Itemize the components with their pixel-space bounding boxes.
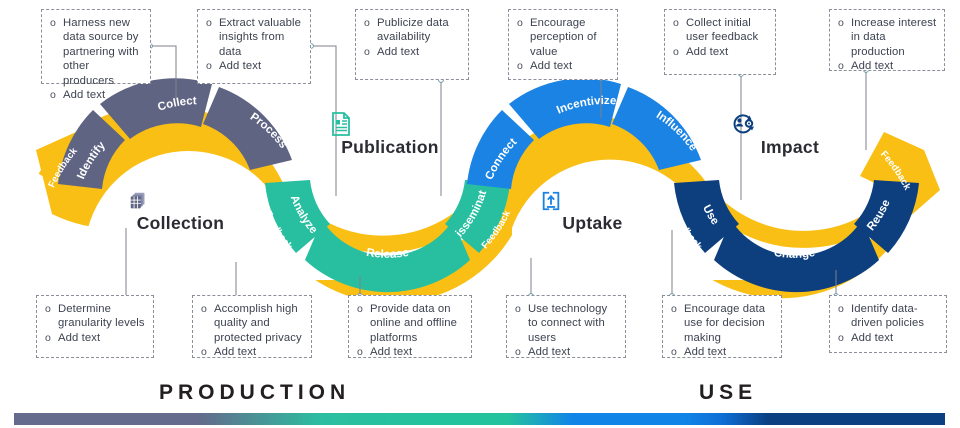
hub-impact[interactable]: Impact [730, 112, 850, 158]
callout-increase-interest[interactable]: Increase interest in data production Add… [829, 9, 945, 71]
callout-item: Provide data on online and offline platf… [356, 302, 464, 345]
hub-label-uptake: Uptake [562, 213, 622, 233]
callout-item: Add text [672, 45, 768, 59]
callout-encourage-data-use[interactable]: Encourage data use for decision making A… [662, 295, 782, 358]
hub-uptake[interactable]: Uptake [540, 190, 645, 234]
callout-item: Determine granularity levels [44, 302, 146, 331]
callout-publicize-data[interactable]: Publicize data availability Add text [355, 9, 469, 80]
callout-item: Add text [670, 345, 774, 359]
phase-label-use: USE [699, 381, 757, 405]
callout-item: Accomplish high quality and protected pr… [200, 302, 304, 345]
hub-publication[interactable]: Publication [330, 112, 450, 158]
callout-item: Increase interest in data production [837, 16, 937, 59]
hub-label-collection: Collection [137, 213, 225, 233]
callout-harness-new-data[interactable]: Harness new data source by partnering wi… [41, 9, 151, 84]
upload-box-icon [540, 190, 645, 212]
callout-item: Add text [514, 345, 618, 359]
callout-item: Add text [49, 88, 143, 102]
callout-extract-insights[interactable]: Extract valuable insights from data Add … [197, 9, 311, 84]
bottom-gradient-bar [14, 413, 945, 425]
hub-label-impact: Impact [761, 137, 819, 157]
callout-item: Encourage data use for decision making [670, 302, 774, 345]
database-stack-icon [128, 190, 233, 212]
callout-use-technology[interactable]: Use technology to connect with users Add… [506, 295, 626, 358]
segment-label-release: Release [365, 247, 409, 261]
diagram-canvas: Identify Collect Process Analyze Release… [0, 0, 960, 428]
callout-high-quality-privacy[interactable]: Accomplish high quality and protected pr… [192, 295, 312, 358]
callout-encourage-perception[interactable]: Encourage perception of value Add text [508, 9, 618, 80]
callout-item: Identify data-driven policies [837, 302, 939, 331]
callout-item: Extract valuable insights from data [205, 16, 303, 59]
callout-item: Add text [516, 59, 610, 73]
callout-item: Collect initial user feedback [672, 16, 768, 45]
hub-label-publication: Publication [341, 137, 439, 157]
callout-determine-granularity[interactable]: Determine granularity levels Add text [36, 295, 154, 358]
callout-item: Add text [205, 59, 303, 73]
callout-item: Publicize data availability [363, 16, 461, 45]
phase-label-production: PRODUCTION [159, 381, 350, 405]
callout-item: Use technology to connect with users [514, 302, 618, 345]
callout-item: Encourage perception of value [516, 16, 610, 59]
callout-item: Add text [837, 331, 939, 345]
document-report-icon [330, 112, 450, 136]
callout-collect-feedback[interactable]: Collect initial user feedback Add text [664, 9, 776, 75]
callout-provide-data-platforms[interactable]: Provide data on online and offline platf… [348, 295, 472, 358]
callout-item: Add text [356, 345, 464, 359]
callout-identify-policies[interactable]: Identify data-driven policies Add text [829, 295, 947, 353]
impact-cycle-icon [730, 112, 850, 136]
callout-item: Add text [44, 331, 146, 345]
callout-item: Add text [363, 45, 461, 59]
segment-label-change: Change [773, 247, 816, 261]
callout-item: Add text [200, 345, 304, 359]
callout-item: Harness new data source by partnering wi… [49, 16, 143, 88]
callout-item: Add text [837, 59, 937, 73]
hub-collection[interactable]: Collection [128, 190, 233, 234]
